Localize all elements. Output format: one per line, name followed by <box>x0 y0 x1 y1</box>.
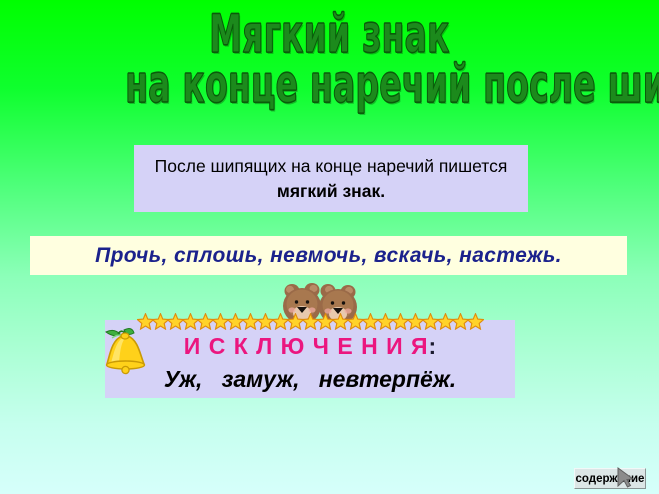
contents-button-label: содержание <box>576 473 645 485</box>
slide-canvas: Мягкий знак на конце наречий после шипящ… <box>0 0 659 494</box>
exceptions-label-colon: : <box>429 333 437 359</box>
examples-text: Прочь, сплошь, невмочь, вскачь, настежь. <box>95 244 562 268</box>
exceptions-label-text: И С К Л Ю Ч Е Н И Я <box>184 333 429 359</box>
page-title: Мягкий знак на конце наречий после шипящ… <box>0 8 659 112</box>
rule-text: После шипящих на конце наречий пишется м… <box>140 154 522 204</box>
rule-text-plain: После шипящих на конце наречий пишется <box>155 156 508 176</box>
contents-button[interactable]: содержание <box>574 468 646 489</box>
star-border-decoration <box>105 313 515 330</box>
exceptions-words: Уж, замуж, невтерпёж. <box>105 366 515 393</box>
examples-box: Прочь, сплошь, невмочь, вскачь, настежь. <box>30 236 627 275</box>
title-line-1: Мягкий знак <box>125 8 534 62</box>
title-line-2: на конце наречий после шипящих. <box>125 58 534 112</box>
rule-box: После шипящих на конце наречий пишется м… <box>134 145 528 212</box>
star-icon <box>467 313 484 330</box>
exceptions-label: И С К Л Ю Ч Е Н И Я: <box>105 333 515 360</box>
rule-text-bold: мягкий знак. <box>277 181 385 201</box>
